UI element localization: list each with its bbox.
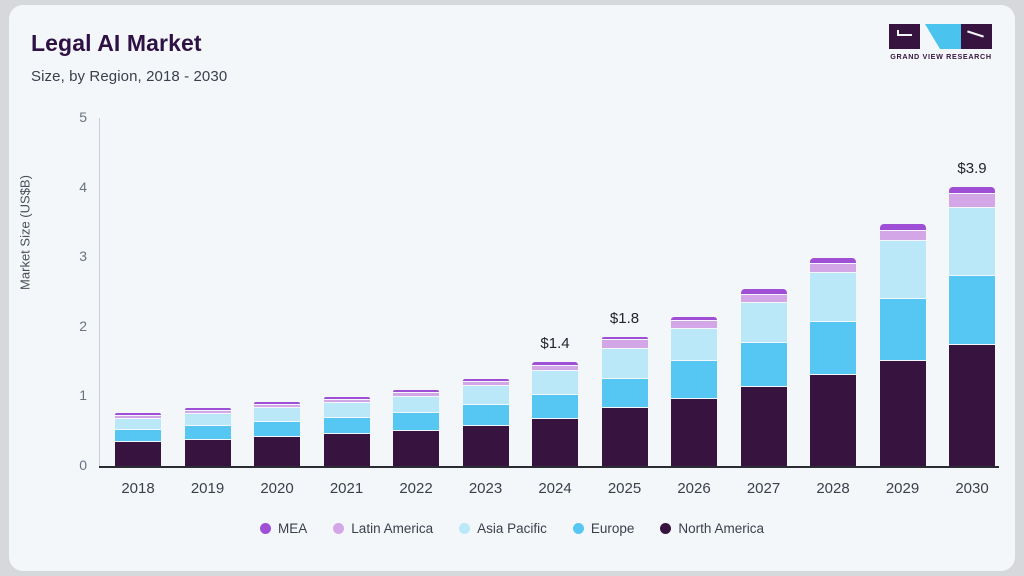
bar-chart: Market Size (US$B) 012345 20182019202020… — [9, 5, 1015, 571]
legend-swatch-icon — [573, 523, 584, 534]
stacked-bar[interactable] — [810, 258, 856, 466]
x-axis-tick: 2024 — [515, 480, 595, 497]
x-axis-tick: 2019 — [168, 480, 248, 497]
bar-segment-asia-pacific[interactable] — [324, 402, 370, 417]
legend-item-mea[interactable]: MEA — [260, 521, 307, 536]
stacked-bar[interactable] — [115, 413, 161, 466]
bar-segment-asia-pacific[interactable] — [532, 370, 578, 393]
bar-segment-europe[interactable] — [532, 394, 578, 419]
bar-segment-europe[interactable] — [880, 298, 926, 360]
bar-value-label: $3.9 — [932, 160, 1012, 177]
bar-segment-north-america[interactable] — [602, 407, 648, 466]
bar-group[interactable] — [463, 118, 509, 466]
bar-segment-latin-america[interactable] — [949, 193, 995, 207]
y-axis-tick: 5 — [57, 109, 87, 125]
bar-segment-asia-pacific[interactable] — [393, 396, 439, 412]
legend-item-latin-america[interactable]: Latin America — [333, 521, 433, 536]
x-axis-tick: 2021 — [307, 480, 387, 497]
y-axis-tick: 4 — [57, 179, 87, 195]
bar-segment-north-america[interactable] — [393, 430, 439, 466]
stacked-bar[interactable] — [741, 289, 787, 466]
x-axis-tick: 2018 — [98, 480, 178, 497]
stacked-bar[interactable] — [949, 187, 995, 466]
bar-group[interactable] — [810, 118, 856, 466]
bar-segment-latin-america[interactable] — [880, 230, 926, 241]
bar-segment-asia-pacific[interactable] — [254, 407, 300, 421]
bar-segment-north-america[interactable] — [741, 386, 787, 466]
legend-swatch-icon — [459, 523, 470, 534]
stacked-bar[interactable] — [880, 224, 926, 466]
bar-segment-asia-pacific[interactable] — [880, 240, 926, 298]
bar-value-label: $1.4 — [515, 335, 595, 352]
bar-segment-europe[interactable] — [185, 425, 231, 439]
bar-segment-europe[interactable] — [115, 429, 161, 441]
bar-segment-latin-america[interactable] — [671, 320, 717, 328]
bar-segment-europe[interactable] — [463, 404, 509, 425]
x-axis-tick: 2028 — [793, 480, 873, 497]
bar-segment-europe[interactable] — [602, 378, 648, 408]
x-axis-tick: 2027 — [724, 480, 804, 497]
bar-segment-north-america[interactable] — [324, 433, 370, 466]
bar-segment-europe[interactable] — [254, 421, 300, 436]
bar-group[interactable] — [532, 118, 578, 466]
legend-label: North America — [678, 521, 764, 536]
bar-segment-asia-pacific[interactable] — [602, 348, 648, 378]
y-axis-tick: 3 — [57, 248, 87, 264]
bar-segment-latin-america[interactable] — [602, 339, 648, 348]
bar-segment-north-america[interactable] — [463, 425, 509, 466]
bar-segment-europe[interactable] — [671, 360, 717, 398]
bar-segment-north-america[interactable] — [880, 360, 926, 466]
legend-label: MEA — [278, 521, 307, 536]
bar-segment-asia-pacific[interactable] — [671, 328, 717, 360]
stacked-bar[interactable] — [254, 402, 300, 466]
stacked-bar[interactable] — [671, 317, 717, 466]
chart-legend: MEALatin AmericaAsia PacificEuropeNorth … — [9, 521, 1015, 536]
legend-swatch-icon — [260, 523, 271, 534]
x-axis-tick: 2026 — [654, 480, 734, 497]
bar-segment-asia-pacific[interactable] — [185, 413, 231, 425]
bar-segment-north-america[interactable] — [671, 398, 717, 466]
stacked-bar[interactable] — [393, 390, 439, 466]
bar-segment-asia-pacific[interactable] — [463, 385, 509, 404]
legend-swatch-icon — [660, 523, 671, 534]
bar-segment-europe[interactable] — [741, 342, 787, 387]
x-axis-tick: 2023 — [446, 480, 526, 497]
bar-segment-europe[interactable] — [949, 275, 995, 344]
legend-swatch-icon — [333, 523, 344, 534]
bar-segment-north-america[interactable] — [115, 441, 161, 466]
legend-label: Asia Pacific — [477, 521, 547, 536]
chart-card: Legal AI Market Size, by Region, 2018 - … — [9, 5, 1015, 571]
x-axis-tick: 2022 — [376, 480, 456, 497]
x-axis-tick: 2020 — [237, 480, 317, 497]
bar-segment-europe[interactable] — [810, 321, 856, 374]
y-axis-tick: 1 — [57, 387, 87, 403]
bar-segment-asia-pacific[interactable] — [810, 272, 856, 320]
y-axis-tick: 0 — [57, 457, 87, 473]
bar-group[interactable] — [602, 118, 648, 466]
bar-segment-asia-pacific[interactable] — [741, 302, 787, 341]
stacked-bar[interactable] — [463, 379, 509, 466]
x-axis-tick: 2030 — [932, 480, 1012, 497]
y-axis-label: Market Size (US$B) — [18, 133, 33, 333]
bar-segment-asia-pacific[interactable] — [115, 418, 161, 429]
bar-group[interactable] — [185, 118, 231, 466]
stacked-bar[interactable] — [324, 397, 370, 466]
bar-group[interactable] — [671, 118, 717, 466]
legend-item-asia-pacific[interactable]: Asia Pacific — [459, 521, 547, 536]
bar-segment-north-america[interactable] — [185, 439, 231, 466]
legend-label: Latin America — [351, 521, 433, 536]
bar-group[interactable] — [254, 118, 300, 466]
bar-segment-asia-pacific[interactable] — [949, 207, 995, 275]
bar-group[interactable] — [393, 118, 439, 466]
bar-group[interactable] — [324, 118, 370, 466]
bar-segment-north-america[interactable] — [810, 374, 856, 466]
bar-segment-north-america[interactable] — [532, 418, 578, 466]
y-axis-line — [99, 118, 100, 467]
legend-item-europe[interactable]: Europe — [573, 521, 635, 536]
bar-segment-latin-america[interactable] — [741, 294, 787, 303]
bar-group[interactable] — [115, 118, 161, 466]
bar-segment-latin-america[interactable] — [810, 263, 856, 272]
stacked-bar[interactable] — [185, 408, 231, 466]
bar-segment-north-america[interactable] — [254, 436, 300, 466]
legend-item-north-america[interactable]: North America — [660, 521, 764, 536]
y-axis-tick: 2 — [57, 318, 87, 334]
bar-segment-europe[interactable] — [393, 412, 439, 430]
x-axis-tick: 2029 — [863, 480, 943, 497]
bar-value-label: $1.8 — [585, 310, 665, 327]
bar-group[interactable] — [741, 118, 787, 466]
x-axis-tick: 2025 — [585, 480, 665, 497]
legend-label: Europe — [591, 521, 635, 536]
bar-group[interactable] — [880, 118, 926, 466]
x-axis-line — [99, 466, 999, 468]
stacked-bar[interactable] — [532, 362, 578, 466]
stacked-bar[interactable] — [602, 337, 648, 466]
bar-segment-europe[interactable] — [324, 417, 370, 433]
bar-segment-north-america[interactable] — [949, 344, 995, 466]
